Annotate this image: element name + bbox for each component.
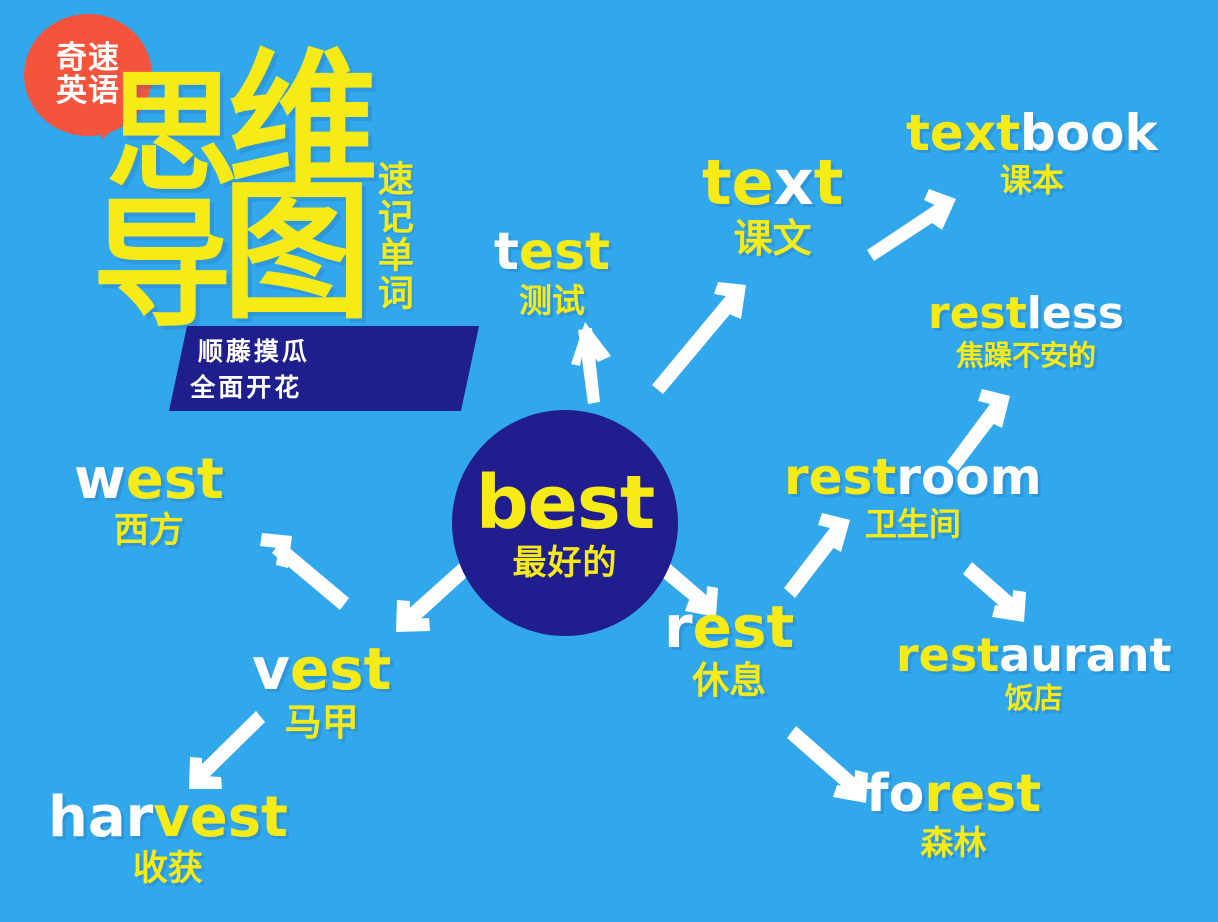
- node-word-text-prefix: te: [702, 146, 774, 219]
- node-word-restaurant-prefix: rest: [896, 628, 999, 682]
- node-word-restless-root: less: [1027, 288, 1124, 339]
- node-word-test-prefix: t: [494, 222, 519, 282]
- node-word-test: test: [494, 226, 610, 278]
- title-char-1: 思: [106, 68, 232, 200]
- logo-slogan: 顺藤摸瓜 全面开花: [169, 326, 479, 411]
- arrow-text-to-textbook: [867, 189, 956, 261]
- node-meaning-restaurant: 饭店: [896, 684, 1172, 713]
- node-word-textbook-prefix: text: [906, 104, 1020, 162]
- node-word-west-root: est: [126, 447, 224, 512]
- node-word-rest: rest: [664, 598, 794, 656]
- node-word-west-prefix: w: [74, 447, 126, 512]
- node-west[interactable]: west西方: [74, 452, 224, 549]
- node-word-test-root: est: [519, 222, 610, 282]
- node-meaning-rest: 休息: [664, 662, 794, 699]
- node-word-textbook: textbook: [906, 108, 1158, 158]
- mindmap-center-node[interactable]: best 最好的: [452, 410, 678, 636]
- node-word-restroom-root: room: [896, 448, 1041, 506]
- node-rest[interactable]: rest休息: [664, 598, 794, 699]
- node-word-restaurant-root: aurant: [999, 628, 1171, 682]
- node-meaning-restroom: 卫生间: [784, 508, 1042, 540]
- node-meaning-text: 课文: [702, 220, 843, 259]
- node-meaning-restless: 焦躁不安的: [928, 342, 1124, 370]
- node-meaning-west: 西方: [74, 514, 224, 549]
- arrow-restroom-to-restaurant: [963, 562, 1026, 622]
- node-textbook[interactable]: textbook课本: [906, 108, 1158, 196]
- node-word-rest-root: est: [693, 593, 795, 661]
- node-word-vest-prefix: v: [252, 635, 290, 703]
- node-word-rest-prefix: r: [664, 593, 693, 661]
- node-word-text-suffix: t: [814, 146, 844, 219]
- node-word-restless-prefix: rest: [928, 288, 1027, 339]
- node-word-harvest-prefix: har: [48, 785, 153, 850]
- node-word-restaurant: restaurant: [896, 632, 1172, 678]
- logo-slogan-right: 全面开花: [190, 368, 302, 404]
- brand-logo: 奇速 英语 思 维 导 图 速记单词 顺藤摸瓜 全面开花: [0, 0, 470, 390]
- node-word-text-root: x: [774, 146, 814, 219]
- node-word-text: text: [702, 152, 843, 214]
- node-word-restroom: restroom: [784, 452, 1042, 502]
- node-forest[interactable]: forest森林: [866, 768, 1041, 859]
- arrow-best-to-vest: [396, 562, 470, 632]
- node-word-vest-root: est: [290, 635, 392, 703]
- node-text[interactable]: text课文: [702, 152, 843, 259]
- node-word-restless: restless: [928, 292, 1124, 336]
- logo-slogan-left: 顺藤摸瓜: [198, 332, 310, 368]
- node-restless[interactable]: restless焦躁不安的: [928, 292, 1124, 370]
- node-restroom[interactable]: restroom卫生间: [784, 452, 1042, 540]
- node-word-restroom-prefix: rest: [784, 448, 896, 506]
- node-word-harvest-root: vest: [153, 785, 288, 850]
- arrow-test-to-text: [652, 282, 746, 394]
- node-vest[interactable]: vest马甲: [252, 640, 391, 741]
- arrow-best-to-test: [571, 322, 611, 404]
- node-meaning-forest: 森林: [866, 826, 1041, 859]
- arrow-rest-to-forest: [787, 726, 868, 803]
- node-meaning-harvest: 收获: [48, 852, 288, 887]
- node-word-forest: forest: [866, 768, 1041, 820]
- node-word-vest: vest: [252, 640, 391, 698]
- center-word: best: [476, 466, 655, 540]
- title-char-4: 图: [222, 178, 372, 328]
- node-restaurant[interactable]: restaurant饭店: [896, 632, 1172, 713]
- node-word-textbook-root: book: [1020, 104, 1158, 162]
- title-char-3: 导: [92, 196, 232, 336]
- node-meaning-vest: 马甲: [252, 704, 391, 741]
- node-word-forest-root: rest: [924, 764, 1041, 824]
- node-word-forest-prefix: fo: [866, 764, 924, 824]
- logo-side-text: 速记单词: [372, 160, 411, 312]
- node-word-west: west: [74, 452, 224, 508]
- node-meaning-textbook: 课本: [906, 164, 1158, 196]
- node-word-harvest: harvest: [48, 790, 288, 846]
- center-meaning: 最好的: [513, 546, 618, 580]
- node-harvest[interactable]: harvest收获: [48, 790, 288, 887]
- node-meaning-test: 测试: [494, 284, 610, 317]
- mindmap-canvas: 奇速 英语 思 维 导 图 速记单词 顺藤摸瓜 全面开花 best 最好的 te…: [0, 0, 1218, 922]
- arrow-vest-to-west: [260, 533, 349, 610]
- node-test[interactable]: test测试: [494, 226, 610, 317]
